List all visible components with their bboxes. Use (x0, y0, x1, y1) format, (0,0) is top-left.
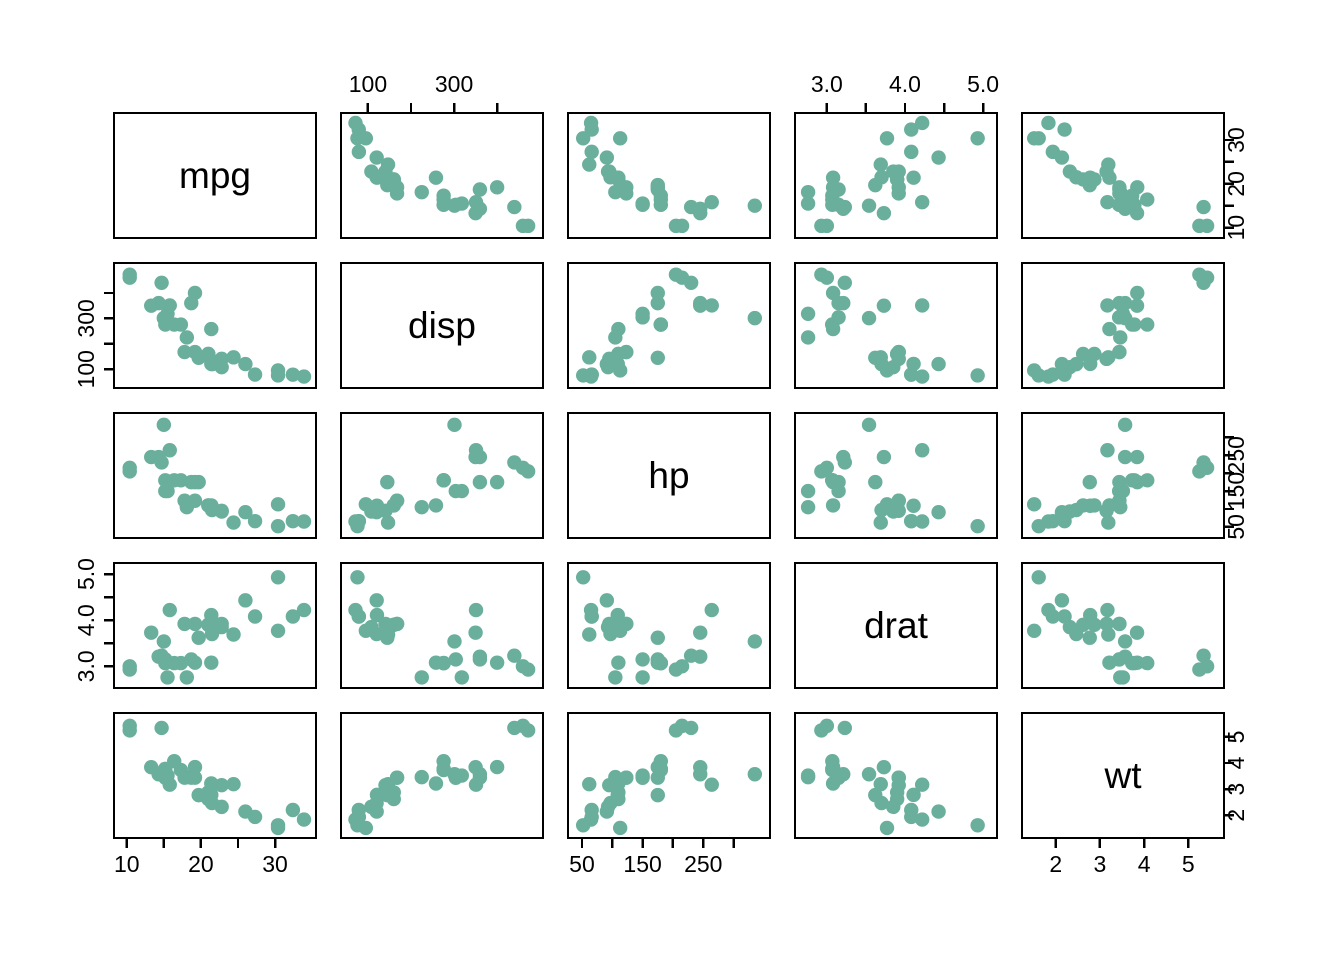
point-cloud (348, 570, 535, 685)
data-point (582, 350, 596, 364)
x-tick-label-mpg-10: 10 (114, 851, 140, 877)
data-point (705, 298, 719, 312)
data-point (473, 649, 487, 663)
diagonal-label-wt: wt (1104, 755, 1143, 796)
data-point (238, 804, 252, 818)
data-point (826, 760, 840, 774)
data-point (204, 655, 218, 669)
data-point (1196, 455, 1210, 469)
data-point (380, 631, 394, 645)
data-point (651, 286, 665, 300)
data-point (390, 494, 404, 508)
data-point (892, 770, 906, 784)
data-point (831, 310, 845, 324)
data-point (801, 484, 815, 498)
y-tick-label-disp-300: 300 (73, 299, 99, 337)
data-point (651, 760, 665, 774)
data-point (906, 170, 920, 184)
data-point (600, 804, 614, 818)
data-point (1099, 617, 1113, 631)
data-point (684, 276, 698, 290)
splom-panel-wt-vs-disp (341, 713, 543, 838)
data-point (468, 760, 482, 774)
data-point (1046, 609, 1060, 623)
data-point (369, 804, 383, 818)
data-point (1140, 192, 1154, 206)
data-point (874, 515, 888, 529)
data-point (348, 116, 362, 130)
data-point (651, 631, 665, 645)
data-point (868, 351, 882, 365)
data-point (1032, 570, 1046, 584)
data-point (177, 494, 191, 508)
data-point (820, 461, 834, 475)
data-point (447, 767, 461, 781)
point-cloud (123, 418, 312, 534)
data-point (1100, 298, 1114, 312)
data-point (350, 570, 364, 584)
data-point (1083, 170, 1097, 184)
y-tick-label-drat-5.0: 5.0 (73, 558, 99, 590)
data-point (191, 788, 205, 802)
data-point (611, 608, 625, 622)
data-point (877, 298, 891, 312)
data-point (507, 455, 521, 469)
data-point (877, 450, 891, 464)
data-point (473, 475, 487, 489)
data-point (651, 351, 665, 365)
data-point (490, 760, 504, 774)
x-tick-label-hp-250: 250 (684, 851, 722, 877)
data-point (826, 180, 840, 194)
data-point (613, 821, 627, 835)
data-point (904, 145, 918, 159)
data-point (468, 625, 482, 639)
data-point (297, 514, 311, 528)
data-point (892, 164, 906, 178)
data-point (1112, 617, 1126, 631)
data-point (191, 475, 205, 489)
data-point (271, 624, 285, 638)
point-cloud (576, 267, 762, 383)
point-cloud (123, 267, 312, 383)
data-point (970, 131, 984, 145)
data-point (635, 310, 649, 324)
data-point (1112, 652, 1126, 666)
point-cloud (348, 116, 535, 233)
data-point (415, 770, 429, 784)
data-point (635, 771, 649, 785)
splom-panel-disp-vs-disp: disp (341, 263, 543, 388)
data-point (1112, 484, 1126, 498)
data-point (297, 812, 311, 826)
splom-panel-disp-vs-wt (1022, 263, 1224, 388)
data-point (429, 776, 443, 790)
data-point (1196, 200, 1210, 214)
data-point (931, 505, 945, 519)
y-tick-label-wt-5: 5 (1223, 731, 1249, 744)
data-point (1055, 357, 1069, 371)
data-point (415, 670, 429, 684)
data-point (693, 760, 707, 774)
point-cloud (801, 719, 985, 835)
scatterplot-matrix-figure: mpgdisphpdratwt102030100300501502503.04.… (0, 0, 1344, 960)
data-point (801, 768, 815, 782)
data-point (447, 634, 461, 648)
data-point (447, 418, 461, 432)
data-point (297, 369, 311, 383)
data-point (160, 670, 174, 684)
data-point (1055, 593, 1069, 607)
data-point (144, 760, 158, 774)
data-point (838, 721, 852, 735)
data-point (1118, 418, 1132, 432)
data-point (693, 206, 707, 220)
data-point (507, 721, 521, 735)
data-point (490, 475, 504, 489)
data-point (490, 180, 504, 194)
data-point (826, 475, 840, 489)
y-tick-label-mpg-10: 10 (1223, 215, 1249, 241)
data-point (675, 219, 689, 233)
y-tick-label-disp-100: 100 (73, 350, 99, 388)
data-point (352, 609, 366, 623)
data-point (163, 443, 177, 457)
splom-panel-mpg-vs-hp (568, 113, 770, 238)
data-point (576, 570, 590, 584)
data-point (838, 455, 852, 469)
data-point (862, 418, 876, 432)
data-point (611, 655, 625, 669)
data-point (1100, 195, 1114, 209)
splom-panel-hp-vs-mpg (114, 413, 316, 538)
data-point (654, 317, 668, 331)
data-point (359, 624, 373, 638)
data-point (651, 655, 665, 669)
data-point (1099, 164, 1113, 178)
data-point (271, 497, 285, 511)
y-tick-label-hp-150: 150 (1223, 472, 1249, 510)
point-cloud (348, 418, 535, 534)
point-cloud (123, 570, 312, 685)
data-point (611, 788, 625, 802)
data-point (915, 298, 929, 312)
data-point (635, 670, 649, 684)
data-point (359, 821, 373, 835)
data-point (188, 286, 202, 300)
data-point (1130, 286, 1144, 300)
diagonal-label-disp: disp (408, 305, 476, 346)
point-cloud (576, 719, 762, 835)
data-point (204, 608, 218, 622)
data-point (915, 195, 929, 209)
data-point (158, 652, 172, 666)
data-point (1200, 219, 1214, 233)
data-point (490, 655, 504, 669)
data-point (174, 656, 188, 670)
data-point (1113, 330, 1127, 344)
data-point (1083, 608, 1097, 622)
x-tick-label-hp-50: 50 (569, 851, 595, 877)
data-point (415, 500, 429, 514)
data-point (801, 307, 815, 321)
data-point (191, 631, 205, 645)
data-point (174, 473, 188, 487)
data-point (584, 810, 598, 824)
data-point (906, 357, 920, 371)
data-point (163, 603, 177, 617)
data-point (600, 150, 614, 164)
data-point (1196, 276, 1210, 290)
y-tick-label-mpg-30: 30 (1223, 127, 1249, 153)
data-point (204, 499, 218, 513)
splom-panel-hp-vs-disp (341, 413, 543, 538)
data-point (906, 788, 920, 802)
data-point (1083, 499, 1097, 513)
data-point (705, 195, 719, 209)
data-point (436, 656, 450, 670)
data-point (369, 593, 383, 607)
splom-panel-wt-vs-drat (795, 713, 997, 838)
data-point (915, 116, 929, 130)
data-point (469, 443, 483, 457)
splom-panel-drat-vs-hp (568, 563, 770, 688)
data-point (449, 484, 463, 498)
data-point (880, 131, 894, 145)
data-point (226, 627, 240, 641)
y-tick-label-wt-2: 2 (1223, 809, 1249, 822)
data-point (271, 570, 285, 584)
data-point (473, 182, 487, 196)
point-cloud (576, 570, 762, 685)
data-point (582, 777, 596, 791)
data-point (862, 767, 876, 781)
diagonal-label-hp: hp (648, 455, 689, 496)
data-point (188, 760, 202, 774)
data-point (693, 625, 707, 639)
data-point (619, 186, 633, 200)
data-point (1116, 670, 1130, 684)
data-point (836, 296, 850, 310)
data-point (904, 810, 918, 824)
data-point (1130, 180, 1144, 194)
data-point (1100, 443, 1114, 457)
data-point (1112, 345, 1126, 359)
data-point (204, 788, 218, 802)
data-point (801, 196, 815, 210)
data-point (154, 276, 168, 290)
diagonal-label-mpg: mpg (179, 155, 251, 196)
data-point (449, 652, 463, 666)
data-point (880, 363, 894, 377)
y-tick-label-drat-3.0: 3.0 (73, 650, 99, 682)
data-point (297, 603, 311, 617)
data-point (238, 593, 252, 607)
data-point (651, 788, 665, 802)
x-tick-label-wt-5: 5 (1182, 851, 1195, 877)
data-point (180, 670, 194, 684)
data-point (801, 330, 815, 344)
panel-frame (114, 713, 316, 838)
data-point (1027, 497, 1041, 511)
data-point (1130, 475, 1144, 489)
data-point (205, 627, 219, 641)
data-point (1083, 631, 1097, 645)
data-point (801, 500, 815, 514)
splom-panel-disp-vs-drat (795, 263, 997, 388)
point-cloud (1027, 570, 1214, 685)
data-point (370, 170, 384, 184)
data-point (970, 368, 984, 382)
splom-panel-wt-vs-mpg (114, 713, 316, 838)
data-point (516, 219, 530, 233)
splom-panel-drat-vs-wt (1022, 563, 1224, 688)
data-point (469, 603, 483, 617)
splom-panel-disp-vs-mpg (114, 263, 316, 388)
data-point (1027, 131, 1041, 145)
data-point (1130, 298, 1144, 312)
data-point (191, 351, 205, 365)
splom-panel-drat-vs-drat: drat (795, 563, 997, 688)
data-point (415, 185, 429, 199)
data-point (748, 767, 762, 781)
data-point (611, 357, 625, 371)
data-point (369, 150, 383, 164)
data-point (1055, 150, 1069, 164)
splom-panel-drat-vs-mpg (114, 563, 316, 688)
data-point (1140, 317, 1154, 331)
point-cloud (123, 719, 312, 835)
data-point (1130, 655, 1144, 669)
data-point (507, 649, 521, 663)
point-cloud (801, 116, 985, 233)
data-point (271, 519, 285, 533)
data-point (582, 157, 596, 171)
x-tick-label-mpg-30: 30 (262, 851, 288, 877)
data-point (1057, 122, 1071, 136)
data-point (1069, 503, 1083, 517)
data-point (684, 721, 698, 735)
data-point (352, 145, 366, 159)
data-point (447, 199, 461, 213)
data-point (177, 345, 191, 359)
data-point (271, 363, 285, 377)
data-point (1069, 357, 1083, 371)
data-point (906, 499, 920, 513)
data-point (455, 670, 469, 684)
data-point (826, 498, 840, 512)
x-tick-label-drat-3.0: 3.0 (811, 71, 843, 97)
splom-panel-mpg-vs-drat (795, 113, 997, 238)
data-point (359, 131, 373, 145)
data-point (1027, 624, 1041, 638)
data-point (820, 219, 834, 233)
splom-panel-hp-vs-wt (1022, 413, 1224, 538)
splom-panel-mpg-vs-disp (341, 113, 543, 238)
data-point (123, 461, 137, 475)
y-tick-label-wt-4: 4 (1223, 756, 1249, 769)
point-cloud (1027, 116, 1214, 233)
data-point (174, 317, 188, 331)
panel-frame (568, 263, 770, 388)
splom-panel-mpg-vs-wt (1022, 113, 1224, 238)
data-point (868, 788, 882, 802)
data-point (352, 514, 366, 528)
data-point (868, 475, 882, 489)
x-tick-label-drat-5.0: 5.0 (967, 71, 999, 97)
data-point (204, 357, 218, 371)
data-point (1196, 649, 1210, 663)
data-point (370, 608, 384, 622)
data-point (157, 634, 171, 648)
data-point (390, 770, 404, 784)
data-point (654, 198, 668, 212)
data-point (144, 625, 158, 639)
point-cloud (348, 719, 535, 835)
data-point (1100, 603, 1114, 617)
data-point (613, 624, 627, 638)
data-point (469, 777, 483, 791)
data-point (880, 821, 894, 835)
data-point (931, 357, 945, 371)
data-point (970, 519, 984, 533)
x-tick-label-drat-4.0: 4.0 (889, 71, 921, 97)
data-point (705, 777, 719, 791)
panel-frame (1022, 113, 1224, 238)
x-tick-label-hp-150: 150 (623, 851, 661, 877)
y-tick-label-mpg-20: 20 (1223, 171, 1249, 197)
data-point (1118, 311, 1132, 325)
data-point (381, 515, 395, 529)
data-point (1118, 634, 1132, 648)
data-point (970, 818, 984, 832)
data-point (177, 617, 191, 631)
data-point (507, 200, 521, 214)
data-point (904, 514, 918, 528)
data-point (820, 271, 834, 285)
data-point (204, 322, 218, 336)
data-point (608, 670, 622, 684)
y-tick-label-hp-50: 50 (1223, 514, 1249, 540)
data-point (154, 721, 168, 735)
data-point (613, 131, 627, 145)
data-point (877, 760, 891, 774)
data-point (1069, 627, 1083, 641)
data-point (874, 157, 888, 171)
splom-panel-disp-vs-hp (568, 263, 770, 388)
data-point (123, 659, 137, 673)
point-cloud (801, 418, 985, 534)
point-cloud (1027, 418, 1214, 534)
y-tick-label-hp-250: 250 (1223, 436, 1249, 474)
data-point (1055, 505, 1069, 519)
data-point (248, 609, 262, 623)
data-point (1083, 475, 1097, 489)
splom-panel-hp-vs-drat (795, 413, 997, 538)
data-point (684, 649, 698, 663)
data-point (238, 357, 252, 371)
point-cloud (1027, 267, 1214, 383)
x-tick-label-wt-3: 3 (1094, 851, 1107, 877)
data-point (931, 804, 945, 818)
data-point (174, 763, 188, 777)
data-point (862, 311, 876, 325)
data-point (880, 497, 894, 511)
data-point (619, 770, 633, 784)
splom-panel-wt-vs-hp (568, 713, 770, 838)
data-point (1027, 363, 1041, 377)
data-point (584, 145, 598, 159)
